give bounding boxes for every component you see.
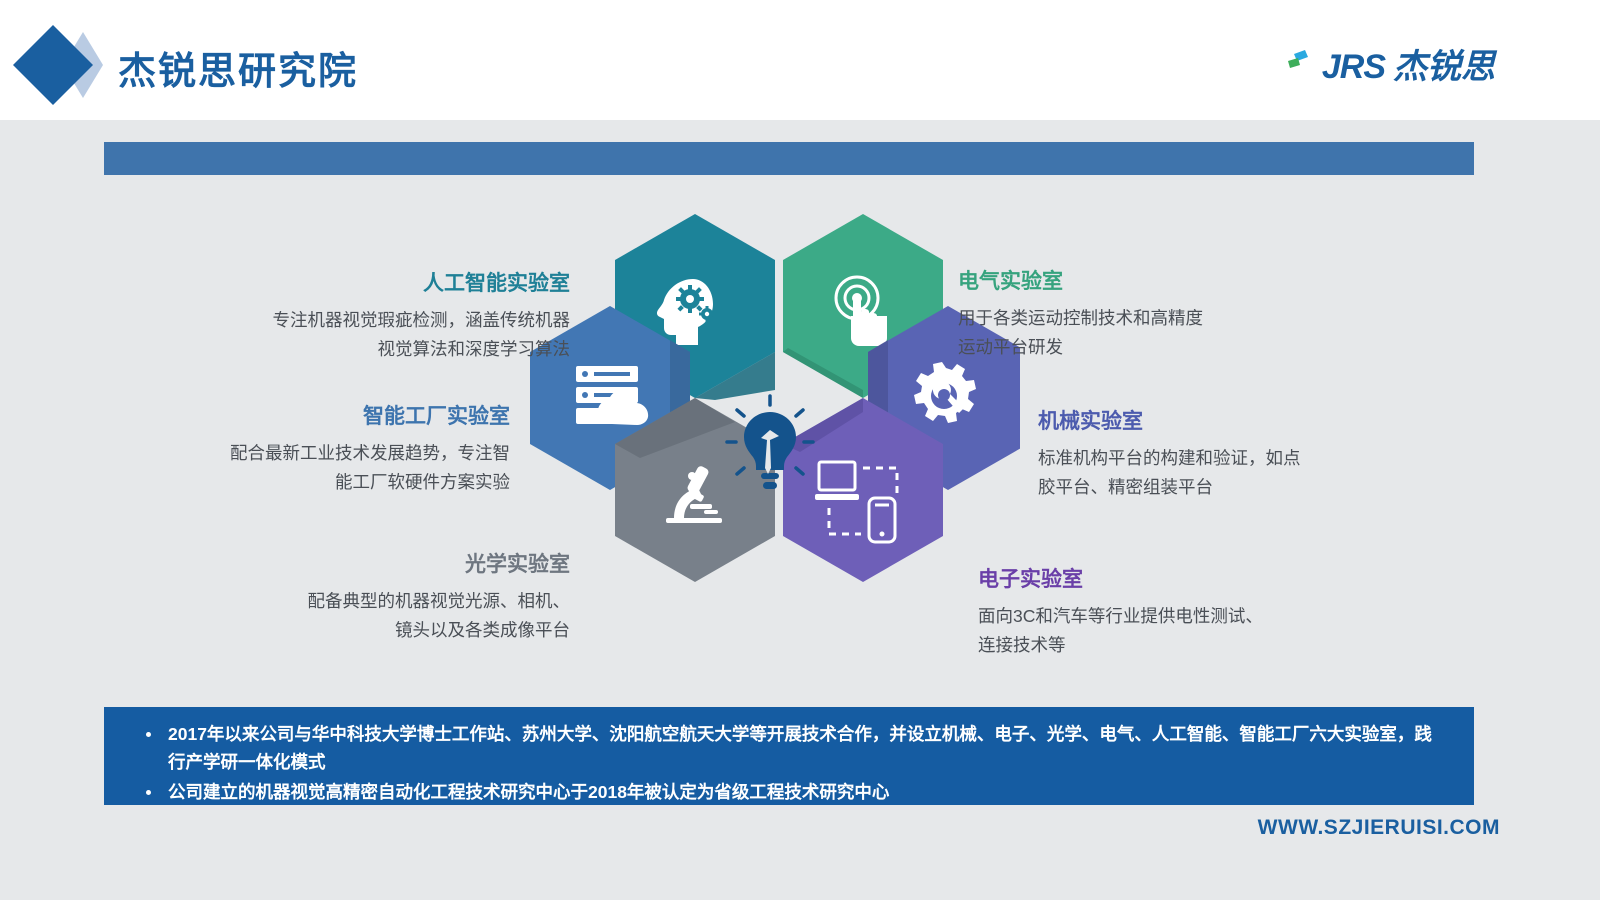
lab-title-smart-factory: 智能工厂实验室 xyxy=(150,400,510,430)
lab-desc-ai-line2: 视觉算法和深度学习算法 xyxy=(150,335,570,364)
lab-desc-ai-line1: 专注机器视觉瑕疵检测，涵盖传统机器 xyxy=(150,306,570,335)
lab-block-electronics: 电子实验室 面向3C和汽车等行业提供电性测试、 连接技术等 xyxy=(978,563,1398,661)
lab-block-mechanical: 机械实验室 标准机构平台的构建和验证，如点 胶平台、精密组装平台 xyxy=(1038,405,1438,503)
lab-desc-optical-line2: 镜头以及各类成像平台 xyxy=(240,616,570,645)
logo-text-cn: 杰锐思 xyxy=(1393,50,1495,84)
hexagon-cluster xyxy=(520,200,1020,680)
server-cloud-icon xyxy=(576,366,648,425)
lab-desc-optical-line1: 配备典型的机器视觉光源、相机、 xyxy=(240,587,570,616)
summary-bullet-1: 2017年以来公司与华中科技大学博士工作站、苏州大学、沈阳航空航天大学等开展技术… xyxy=(130,720,1448,776)
lab-desc-mechanical-line2: 胶平台、精密组装平台 xyxy=(1038,473,1438,502)
lab-title-electronics: 电子实验室 xyxy=(978,563,1398,593)
summary-banner: 2017年以来公司与华中科技大学博士工作站、苏州大学、沈阳航空航天大学等开展技术… xyxy=(104,707,1474,805)
summary-bullet-list: 2017年以来公司与华中科技大学博士工作站、苏州大学、沈阳航空航天大学等开展技术… xyxy=(104,707,1474,806)
slide-header: 杰锐思研究院 JRS 杰锐思 xyxy=(0,0,1600,120)
logo-text-en: JRS xyxy=(1322,50,1385,84)
diamond-logo-mark xyxy=(8,20,108,110)
lab-desc-electronics-line2: 连接技术等 xyxy=(978,631,1398,660)
lab-title-optical: 光学实验室 xyxy=(240,548,570,578)
lab-desc-electric-line1: 用于各类运动控制技术和高精度 xyxy=(958,304,1358,333)
lab-desc-mechanical-line1: 标准机构平台的构建和验证，如点 xyxy=(1038,444,1438,473)
diamond-shapes-icon xyxy=(8,20,108,110)
lab-desc-electronics-line1: 面向3C和汽车等行业提供电性测试、 xyxy=(978,602,1398,631)
lab-desc-electric-line2: 运动平台研发 xyxy=(958,333,1358,362)
lab-block-electric: 电气实验室 用于各类运动控制技术和高精度 运动平台研发 xyxy=(958,265,1358,363)
lab-title-electric: 电气实验室 xyxy=(958,265,1358,295)
lab-block-ai: 人工智能实验室 专注机器视觉瑕疵检测，涵盖传统机器 视觉算法和深度学习算法 xyxy=(150,267,570,365)
logo-arrow-icon xyxy=(1288,50,1314,84)
footer-website-url[interactable]: WWW.SZJIERUISI.COM xyxy=(1258,816,1500,840)
lab-title-ai: 人工智能实验室 xyxy=(150,267,570,297)
summary-bullet-2: 公司建立的机器视觉高精密自动化工程技术研究中心于2018年被认定为省级工程技术研… xyxy=(130,778,1448,806)
page-title: 杰锐思研究院 xyxy=(118,40,358,95)
lab-block-optical: 光学实验室 配备典型的机器视觉光源、相机、 镜头以及各类成像平台 xyxy=(240,548,570,646)
lab-title-mechanical: 机械实验室 xyxy=(1038,405,1438,435)
lab-desc-smart-line1: 配合最新工业技术发展趋势，专注智 xyxy=(150,439,510,468)
lab-desc-smart-line2: 能工厂软硬件方案实验 xyxy=(150,468,510,497)
section-title-bar xyxy=(104,142,1474,175)
slide-root: 杰锐思研究院 JRS 杰锐思 xyxy=(0,0,1600,900)
lab-block-smart-factory: 智能工厂实验室 配合最新工业技术发展趋势，专注智 能工厂软硬件方案实验 xyxy=(150,400,510,498)
company-logo: JRS 杰锐思 xyxy=(1288,44,1495,90)
